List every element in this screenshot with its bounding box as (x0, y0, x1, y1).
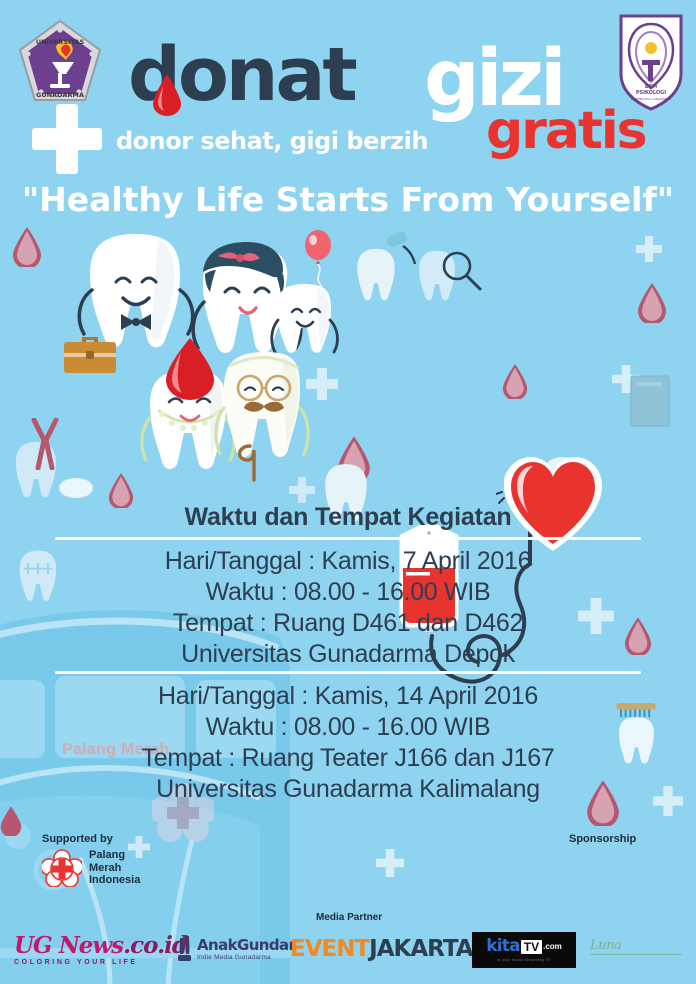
pmi-line-3: Indonesia (89, 874, 140, 887)
event-block-2: Hari/Tanggal : Kamis, 14 April 2016 Wakt… (0, 681, 696, 805)
media-partner-label: Media Partner (316, 912, 382, 923)
kitatv-kita: kita (486, 938, 520, 955)
divider-rule-1 (55, 537, 641, 540)
section-title: Waktu dan Tempat Kegiatan (0, 503, 696, 532)
bem-psikologi-logo: BEM PSIKOLOGI UNIVERSITAS GUNADARMA (616, 12, 686, 112)
bem-logo-text2: PSIKOLOGI (636, 90, 666, 96)
supported-by-label: Supported by (42, 833, 222, 845)
kitatv-logo[interactable]: kita TV .com is your music streaming TV (472, 932, 576, 968)
event1-campus: Universitas Gunadarma Depok (0, 639, 696, 670)
ug-logo-bottom-text: GUNADARMA (36, 91, 84, 99)
plus-cross-icon (32, 104, 102, 174)
anakgundar-sub: Indie Media Gunadarma (197, 954, 295, 961)
poster-canvas: UNIVERSITAS GUNADARMA BEM PSIKOLOGI UNIV… (0, 0, 696, 984)
blood-drop-icon (0, 806, 22, 836)
event2-date: Hari/Tanggal : Kamis, 14 April 2016 (0, 681, 696, 712)
ugnews-name: UG News (14, 932, 123, 959)
event2-campus: Universitas Gunadarma Kalimalang (0, 774, 696, 805)
kitatv-tv: TV (521, 940, 542, 954)
luna-name: Luna (590, 938, 686, 953)
divider-rule-2 (55, 671, 641, 674)
poster-tagline: "Healthy Life Starts From Yourself" (0, 182, 696, 218)
pmi-logo-icon (42, 849, 82, 887)
event1-place: Tempat : Ruang D461 dan D462 (0, 608, 696, 639)
kitatv-tagline: is your music streaming TV (497, 957, 550, 962)
event1-date: Hari/Tanggal : Kamis, 7 April 2016 (0, 546, 696, 577)
pmi-line-2: Merah (89, 862, 140, 875)
supported-by-section: Supported by Palang Merah Indonesia (42, 833, 222, 887)
luna-underline (590, 954, 682, 955)
title-gratis: gratis (486, 105, 646, 157)
pmi-line-1: Palang (89, 849, 140, 862)
tooth-character-grandpa (210, 346, 320, 486)
briefcase-icon (62, 331, 118, 375)
event-block-1: Hari/Tanggal : Kamis, 7 April 2016 Waktu… (0, 546, 696, 670)
blood-drop-icon (152, 74, 182, 116)
event1-time: Waktu : 08.00 - 16.00 WIB (0, 577, 696, 608)
poster-header: UNIVERSITAS GUNADARMA BEM PSIKOLOGI UNIV… (0, 0, 696, 175)
kitatv-dotcom: .com (543, 942, 562, 951)
header-subtitle: donor sehat, gigi berzih (116, 128, 428, 154)
ugnews-slogan: COLORING YOUR LIFE (14, 959, 187, 966)
event2-time: Waktu : 08.00 - 16.00 WIB (0, 712, 696, 743)
ugnews-logo[interactable]: UG News.co.id COLORING YOUR LIFE (14, 934, 187, 966)
anakgundar-mark-icon (176, 936, 193, 962)
sponsorship-label: Sponsorship (569, 833, 636, 845)
eventjakarta-jakarta: JAKARTA (369, 936, 472, 962)
event2-place: Tempat : Ruang Teater J166 dan J167 (0, 743, 696, 774)
luna-logo[interactable]: Luna (590, 938, 686, 970)
universitas-gunadarma-logo: UNIVERSITAS GUNADARMA (16, 18, 104, 110)
eventjakarta-event: EVENT (290, 936, 369, 962)
eventjakarta-logo[interactable]: EVENTJAKARTA (290, 938, 473, 961)
ug-logo-top-text: UNIVERSITAS (36, 38, 85, 46)
anakgundar-name: AnakGundar (197, 938, 295, 953)
anakgundar-logo[interactable]: AnakGundar Indie Media Gunadarma (176, 936, 295, 962)
illustration-area (0, 218, 696, 498)
balloon-icon (302, 230, 342, 296)
cross-icon (376, 849, 404, 877)
